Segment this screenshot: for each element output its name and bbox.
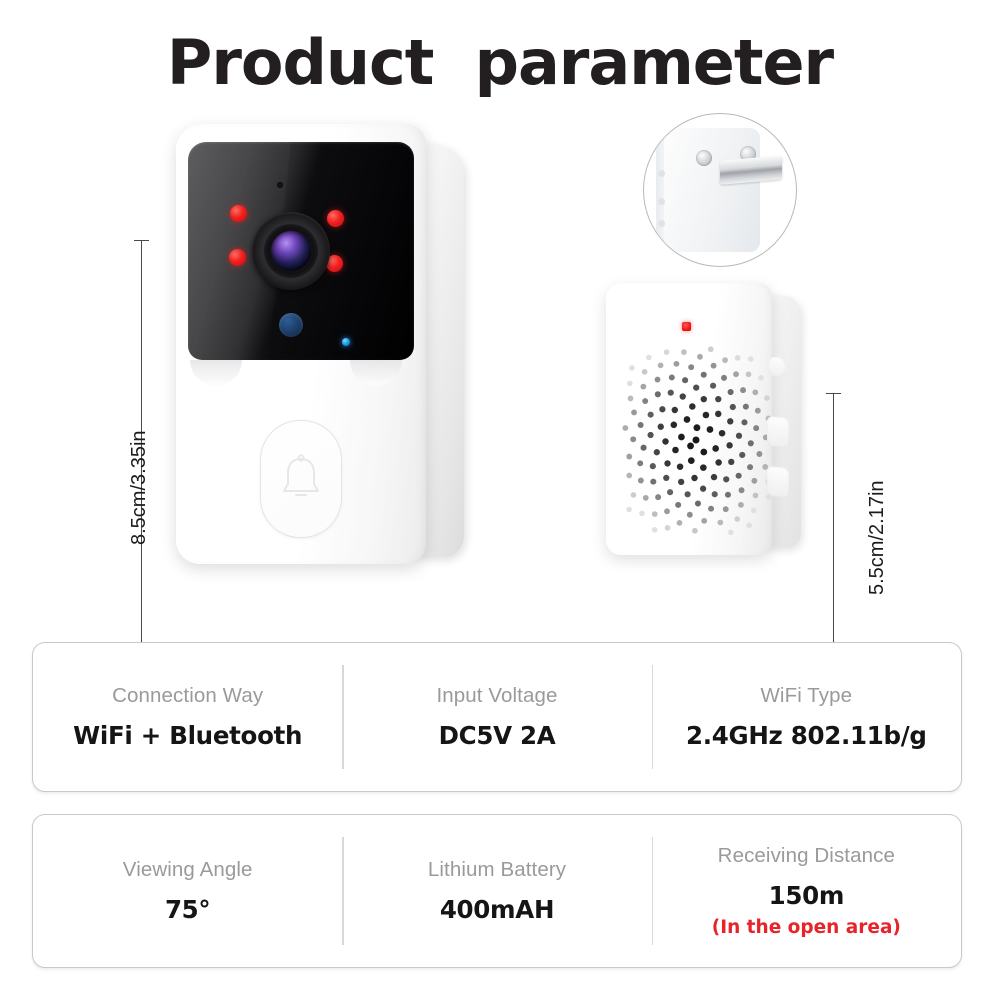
spec-card-row-2: Viewing Angle 75° Lithium Battery 400mAH… bbox=[32, 814, 962, 968]
spec-label: Receiving Distance bbox=[718, 844, 895, 868]
ir-led-icon bbox=[229, 249, 246, 266]
dimension-cap bbox=[134, 240, 149, 241]
ir-led-icon bbox=[327, 210, 344, 227]
doorbell-camera-panel bbox=[188, 142, 414, 360]
lens-ring bbox=[264, 224, 318, 278]
plug-screw-icon bbox=[696, 150, 712, 166]
plug-closeup-inset bbox=[643, 113, 797, 267]
pir-sensor-icon bbox=[279, 313, 303, 337]
doorbell-body bbox=[176, 124, 426, 564]
spec-cell: WiFi Type 2.4GHz 802.11b/g bbox=[652, 643, 961, 791]
spec-label: Input Voltage bbox=[436, 684, 557, 708]
dimension-line-chime-height bbox=[833, 393, 834, 671]
spec-cell: Receiving Distance 150m (In the open are… bbox=[652, 815, 961, 967]
lens-glass bbox=[271, 231, 311, 271]
dimension-label-chime-height: 5.5cm/2.17in bbox=[866, 480, 889, 595]
spec-value: 400mAH bbox=[440, 895, 554, 924]
spec-label: Viewing Angle bbox=[123, 858, 253, 882]
spec-label: WiFi Type bbox=[760, 684, 852, 708]
page-title: Product parameter bbox=[0, 26, 1000, 99]
spec-value: 2.4GHz 802.11b/g bbox=[686, 721, 927, 750]
chime-side-button[interactable] bbox=[767, 466, 789, 498]
ir-led-icon bbox=[230, 205, 247, 222]
status-led-icon bbox=[342, 338, 350, 346]
plug-vent bbox=[658, 198, 665, 205]
speaker-grille-icon bbox=[620, 345, 772, 535]
doorbell-bell-button[interactable] bbox=[260, 420, 342, 538]
microphone-icon bbox=[277, 182, 283, 188]
body-notch bbox=[350, 360, 402, 386]
spec-label: Lithium Battery bbox=[428, 858, 566, 882]
spec-cell: Input Voltage DC5V 2A bbox=[342, 643, 651, 791]
spec-value: DC5V 2A bbox=[439, 721, 556, 750]
dimension-label-doorbell-height: 8.5cm/3.35in bbox=[128, 430, 151, 545]
chime-side-tab[interactable] bbox=[768, 356, 786, 378]
spec-value: WiFi + Bluetooth bbox=[73, 721, 302, 750]
plug-prong-icon bbox=[720, 155, 782, 184]
spec-label: Connection Way bbox=[112, 684, 263, 708]
spec-value: 75° bbox=[165, 895, 210, 924]
plug-vent bbox=[658, 220, 665, 227]
spec-value: 150m bbox=[769, 881, 844, 910]
spec-cell: Viewing Angle 75° bbox=[33, 815, 342, 967]
spec-cell: Connection Way WiFi + Bluetooth bbox=[33, 643, 342, 791]
chime-side-button[interactable] bbox=[767, 416, 789, 448]
spec-note: (In the open area) bbox=[712, 917, 901, 938]
camera-lens-icon bbox=[252, 212, 330, 290]
product-illustration: 8.5cm/3.35in 5.3cm/2.06in 2.4cm/0.94in 5… bbox=[0, 105, 1000, 630]
spec-card-row-1: Connection Way WiFi + Bluetooth Input Vo… bbox=[32, 642, 962, 792]
chime-body bbox=[606, 283, 772, 555]
spec-cell: Lithium Battery 400mAH bbox=[342, 815, 651, 967]
chime-unit bbox=[600, 275, 840, 575]
doorbell-unit bbox=[168, 118, 468, 568]
chime-indicator-led-icon bbox=[682, 322, 691, 331]
dimension-cap bbox=[826, 393, 841, 394]
plug-vent bbox=[658, 170, 665, 177]
body-notch bbox=[190, 360, 242, 386]
bell-icon bbox=[279, 454, 323, 504]
